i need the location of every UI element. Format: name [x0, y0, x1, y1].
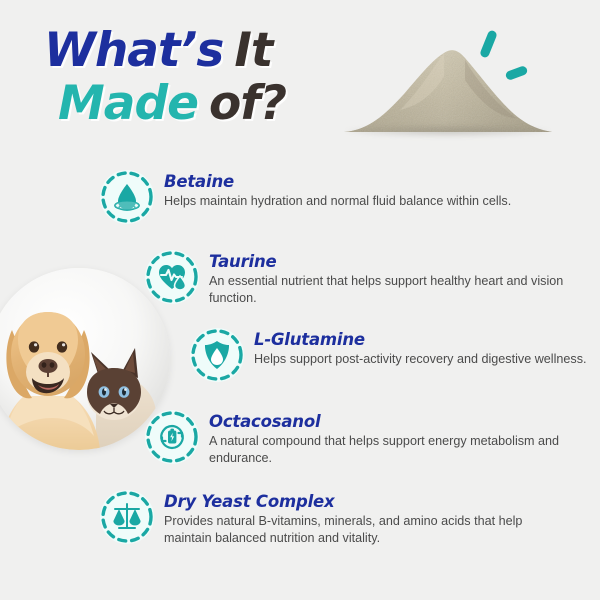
- ingredient-name: Dry Yeast Complex: [164, 492, 524, 511]
- title-word-it: It: [234, 23, 272, 78]
- ingredient-name: Taurine: [209, 252, 569, 271]
- ingredient-description: A natural compound that helps support en…: [209, 433, 569, 466]
- ingredient-text: L-Glutamine Helps support post-activity …: [254, 328, 587, 368]
- icon-badge: [100, 170, 154, 224]
- title-line-2: Madeof?: [44, 77, 374, 130]
- icon-badge: [145, 250, 199, 304]
- icon-badge: [145, 410, 199, 464]
- title-word-whats: What’s: [44, 23, 223, 78]
- ingredient-item-taurine[interactable]: Taurine An essential nutrient that helps…: [145, 250, 569, 306]
- ingredient-text: Taurine An essential nutrient that helps…: [209, 250, 569, 306]
- ingredient-name: L-Glutamine: [254, 330, 587, 349]
- ingredient-name: Betaine: [164, 172, 511, 191]
- ingredient-text: Betaine Helps maintain hydration and nor…: [164, 170, 511, 210]
- water-drop-ripple-icon: [111, 181, 143, 213]
- ingredient-name: Octacosanol: [209, 412, 569, 431]
- ingredient-item-dry-yeast-complex[interactable]: Dry Yeast Complex Provides natural B-vit…: [100, 490, 524, 546]
- heart-pulse-drop-icon: [156, 261, 188, 293]
- ingredient-text: Octacosanol A natural compound that help…: [209, 410, 569, 466]
- powder-shadow: [346, 125, 550, 137]
- ingredient-description: Helps maintain hydration and normal flui…: [164, 193, 511, 210]
- ingredient-description: Helps support post-activity recovery and…: [254, 351, 587, 368]
- ingredient-item-octacosanol[interactable]: Octacosanol A natural compound that help…: [145, 410, 569, 466]
- ingredient-description: Provides natural B-vitamins, minerals, a…: [164, 513, 524, 546]
- shield-drop-icon: [201, 339, 233, 371]
- balance-scale-icon: [111, 501, 143, 533]
- ingredient-text: Dry Yeast Complex Provides natural B-vit…: [164, 490, 524, 546]
- page-title: What’sIt Madeof?: [44, 24, 374, 130]
- battery-energy-cycle-icon: [156, 421, 188, 453]
- ingredient-item-betaine[interactable]: Betaine Helps maintain hydration and nor…: [100, 170, 511, 224]
- infographic-page: What’sIt Madeof?: [0, 0, 600, 600]
- ingredient-item-l-glutamine[interactable]: L-Glutamine Helps support post-activity …: [190, 328, 587, 382]
- title-word-of: of?: [209, 76, 286, 131]
- title-word-made: Made: [58, 76, 198, 131]
- title-line-1: What’sIt: [44, 24, 374, 77]
- icon-badge: [100, 490, 154, 544]
- ingredient-description: An essential nutrient that helps support…: [209, 273, 569, 306]
- icon-badge: [190, 328, 244, 382]
